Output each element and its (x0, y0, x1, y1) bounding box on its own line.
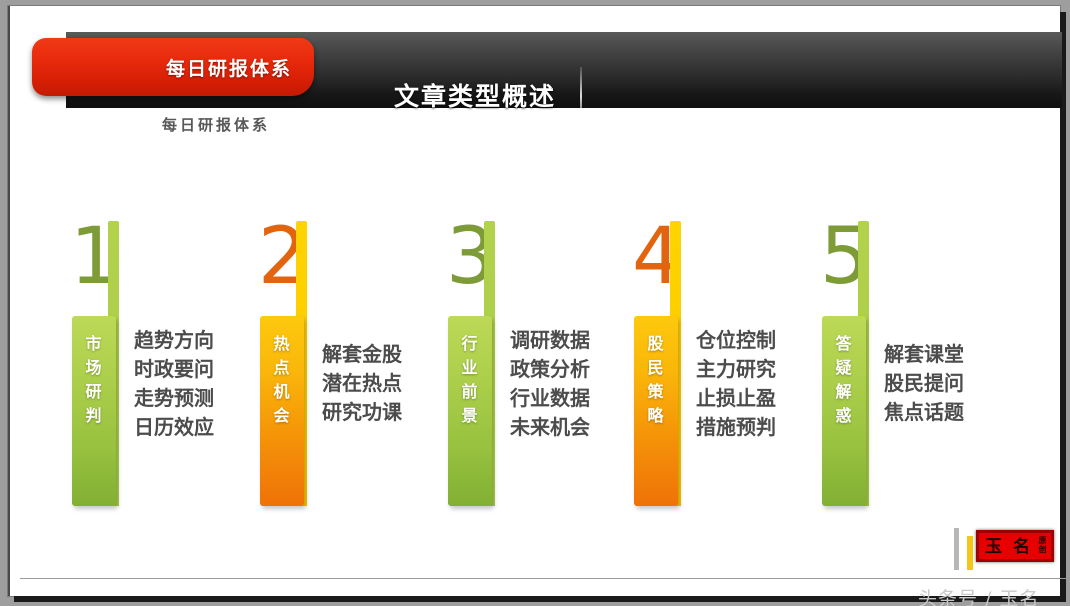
column-item-list: 趋势方向 时政要问 走势预测 日历效应 (134, 326, 214, 442)
footer-deco-gray-bar (954, 528, 959, 570)
footer-divider (20, 578, 1070, 579)
column-label-text: 市 场 研 判 (72, 332, 116, 428)
list-item: 政策分析 (510, 355, 590, 384)
watermark-text: 头条号 / 玉名 (918, 584, 1039, 606)
column-4: 4 股 民 策 略 仓位控制 主力研究 止损止盈 措施预判 (624, 218, 824, 508)
footer-deco-yellow-bar (967, 536, 973, 570)
list-item: 仓位控制 (696, 326, 776, 355)
column-label-bar: 热 点 机 会 (260, 316, 304, 506)
column-item-list: 仓位控制 主力研究 止损止盈 措施预判 (696, 326, 776, 442)
list-item: 止损止盈 (696, 384, 776, 413)
column-item-list: 调研数据 政策分析 行业数据 未来机会 (510, 326, 590, 442)
list-item: 解套课堂 (884, 340, 964, 369)
stamp-char-second: 名 (1013, 537, 1030, 557)
list-item: 时政要问 (134, 355, 214, 384)
column-group: 1 市 场 研 判 趋势方向 时政要问 走势预测 日历效应 2 (10, 6, 1062, 596)
column-label-bar: 答 疑 解 惑 (822, 316, 866, 506)
list-item: 焦点话题 (884, 398, 964, 427)
column-label-bar: 市 场 研 判 (72, 316, 116, 506)
list-item: 趋势方向 (134, 326, 214, 355)
column-label-text: 股 民 策 略 (634, 332, 678, 428)
list-item: 研究功课 (322, 398, 402, 427)
column-3: 3 行 业 前 景 调研数据 政策分析 行业数据 未来机会 (438, 218, 638, 508)
list-item: 潜在热点 (322, 369, 402, 398)
stamp-original-mark: 原 创 (1037, 536, 1048, 554)
stamp-char-first: 玉 (985, 537, 1002, 557)
column-label-text: 答 疑 解 惑 (822, 332, 866, 428)
column-label-bar: 股 民 策 略 (634, 316, 678, 506)
list-item: 走势预测 (134, 384, 214, 413)
column-label-bar: 行 业 前 景 (448, 316, 492, 506)
column-label-text: 热 点 机 会 (260, 332, 304, 428)
author-stamp: 玉 名 原 创 (976, 530, 1054, 562)
list-item: 股民提问 (884, 369, 964, 398)
column-item-list: 解套金股 潜在热点 研究功课 (322, 340, 402, 427)
column-2: 2 热 点 机 会 解套金股 潜在热点 研究功课 (250, 218, 450, 508)
column-1: 1 市 场 研 判 趋势方向 时政要问 走势预测 日历效应 (62, 218, 262, 508)
list-item: 调研数据 (510, 326, 590, 355)
list-item: 行业数据 (510, 384, 590, 413)
list-item: 未来机会 (510, 413, 590, 442)
column-item-list: 解套课堂 股民提问 焦点话题 (884, 340, 964, 427)
list-item: 主力研究 (696, 355, 776, 384)
list-item: 措施预判 (696, 413, 776, 442)
slide-canvas: 每日研报体系 文章类型概述 每日研报体系 1 市 场 研 判 趋势方向 时政要问… (8, 6, 1060, 596)
column-5: 5 答 疑 解 惑 解套课堂 股民提问 焦点话题 (812, 218, 1012, 508)
list-item: 日历效应 (134, 413, 214, 442)
list-item: 解套金股 (322, 340, 402, 369)
column-label-text: 行 业 前 景 (448, 332, 492, 428)
